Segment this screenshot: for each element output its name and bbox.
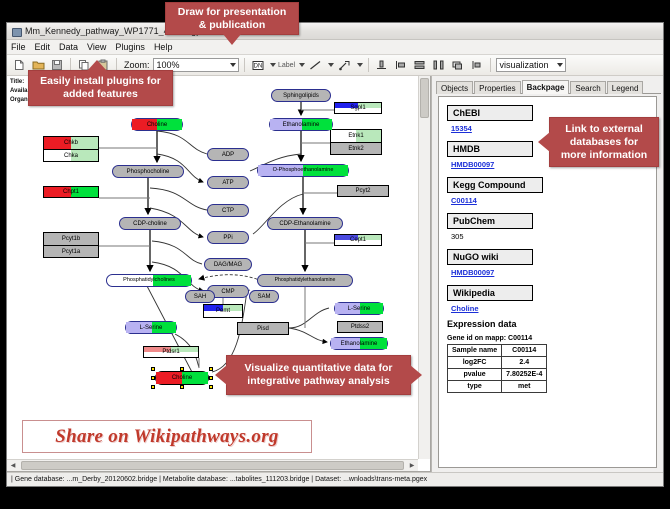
tab-backpage[interactable]: Backpage: [522, 80, 570, 94]
cell-key: log2FC: [448, 357, 502, 369]
node-label: Ethanolamine: [341, 341, 378, 347]
node-label: Phosphatidylethanolamine: [275, 278, 336, 283]
db-group-pubchem: PubChem 305: [447, 211, 656, 241]
db-group-nugo: NuGO wiki HMDB00097: [447, 247, 656, 277]
db-link-kegg-compound[interactable]: C00114: [451, 196, 656, 205]
tab-legend[interactable]: Legend: [607, 81, 644, 94]
metabolite-o-phosphoethanolamine[interactable]: O-Phosphoethanolamine: [257, 164, 349, 177]
status-bar: | Gene database: ...m_Derby_20120602.bri…: [7, 472, 663, 486]
canvas-horizontal-scrollbar[interactable]: ◀ ▶: [7, 459, 418, 471]
node-label: Ethanolamine: [283, 122, 320, 128]
metabolite-dag-mag[interactable]: DAG/MAG: [204, 258, 252, 271]
align-left-icon[interactable]: [393, 57, 409, 73]
node-label: Etnk1: [348, 133, 363, 139]
metabolite-adp[interactable]: ADP: [207, 148, 249, 161]
callout-arrow-down: [223, 34, 241, 45]
metabolite-choline-selected[interactable]: Choline: [155, 371, 209, 385]
table-row: type met: [448, 381, 547, 393]
node-label: Chka: [64, 153, 78, 159]
chevron-down-icon[interactable]: [299, 63, 305, 67]
scrollbar-thumb[interactable]: [21, 461, 404, 470]
db-value-pubchem: 305: [451, 232, 656, 241]
pathway-canvas-pane[interactable]: Title: Availa Organi: [7, 76, 431, 472]
node-label: O-Phosphoethanolamine: [273, 168, 334, 174]
cell-value: 7.80252E-4: [502, 369, 547, 381]
node-label: Pcyt2: [355, 188, 370, 194]
expression-data-table: Sample name C00114 log2FC 2.4 pvalue 7.8…: [447, 344, 547, 393]
cell-value: C00114: [502, 345, 547, 357]
metabolite-ethanolamine-right[interactable]: Ethanolamine: [330, 337, 388, 350]
callout-arrow-up: [87, 60, 107, 71]
metabolite-phosphatidylcholines[interactable]: Phosphatidylcholines: [106, 274, 192, 287]
distribute-icon[interactable]: [431, 57, 447, 73]
cell-key: pvalue: [448, 369, 502, 381]
db-group-wikipedia: Wikipedia Choline: [447, 283, 656, 313]
gene-id-line: Gene id on mapp: C00114: [447, 335, 656, 342]
node-label: ADP: [222, 152, 234, 158]
node-label: SAH: [194, 294, 206, 300]
scrollbar-thumb[interactable]: [420, 78, 429, 118]
callout-arrow-right: [410, 365, 422, 385]
gene-pcyt1a[interactable]: Pcyt1a: [44, 245, 98, 257]
selection-handle[interactable]: [209, 385, 213, 389]
table-row: log2FC 2.4: [448, 357, 547, 369]
canvas-vertical-scrollbar[interactable]: [418, 76, 430, 459]
db-header-hmdb: HMDB: [447, 141, 533, 157]
gene-pemt[interactable]: Pemt: [203, 304, 243, 318]
order-icon[interactable]: [450, 57, 466, 73]
menu-item-data[interactable]: Data: [58, 42, 79, 52]
callout-draw-for-presentation: Draw for presentation & publication: [165, 2, 299, 35]
gene-cept1[interactable]: Cept1: [334, 234, 382, 246]
db-header-chebi: ChEBI: [447, 105, 533, 121]
gene-pcyt1b[interactable]: Pcyt1b: [44, 233, 98, 245]
callout-line-2: databases for: [570, 136, 638, 149]
metabolite-ctp[interactable]: CTP: [207, 204, 249, 217]
callout-share-on-wikipathways: Share on Wikipathways.org: [22, 420, 312, 453]
selection-handle[interactable]: [209, 367, 213, 371]
node-label: Choline: [147, 122, 167, 128]
node-label: CTP: [222, 208, 234, 214]
node-label: Chpt1: [63, 189, 79, 195]
chevron-down-icon[interactable]: [328, 63, 334, 67]
tab-search[interactable]: Search: [570, 81, 605, 94]
scroll-left-icon[interactable]: ◀: [7, 460, 19, 472]
node-label: Pisd: [257, 326, 269, 332]
gene-pisd[interactable]: Pisd: [237, 322, 289, 335]
node-label: CMP: [221, 289, 234, 295]
gene-etnk1[interactable]: Etnk1: [331, 130, 381, 142]
svg-text:DN: DN: [253, 63, 262, 69]
db-header-pubchem: PubChem: [447, 213, 533, 229]
screenshot-root: Mm_Kennedy_pathway_WP1771_45176.gpml Fil…: [0, 0, 670, 509]
stack-icon[interactable]: [412, 57, 428, 73]
menu-item-edit[interactable]: Edit: [34, 42, 52, 52]
table-row: pvalue 7.80252E-4: [448, 369, 547, 381]
visualization-value: visualization: [500, 60, 549, 70]
metabolite-cdp-ethanolamine[interactable]: CDP-Ethanolamine: [267, 217, 343, 230]
node-label: Pcyt1a: [62, 249, 80, 255]
toolbar-separator: [368, 58, 369, 72]
node-label: L-Serine: [140, 325, 163, 331]
node-label: Chkb: [64, 140, 78, 146]
chevron-down-icon: [230, 63, 236, 67]
node-label: Phosphocholine: [127, 169, 170, 175]
title-bar: Mm_Kennedy_pathway_WP1771_45176.gpml: [7, 23, 663, 40]
line-tool-icon[interactable]: [308, 57, 324, 73]
callout-line-2: integrative pathway analysis: [247, 375, 389, 388]
menu-item-plugins[interactable]: Plugins: [114, 42, 146, 52]
tab-objects[interactable]: Objects: [436, 81, 473, 94]
metabolite-ethanolamine-top[interactable]: Ethanolamine: [269, 118, 333, 131]
new-document-icon[interactable]: [11, 57, 27, 73]
db-header-wikipedia: Wikipedia: [447, 285, 533, 301]
menu-item-file[interactable]: File: [10, 42, 27, 52]
tab-properties[interactable]: Properties: [474, 81, 520, 94]
gene-chkb[interactable]: Chkb: [44, 137, 98, 149]
gene-sgpl1[interactable]: Sgpl1: [334, 102, 382, 114]
node-label: Pcyt1b: [62, 236, 80, 242]
application-icon: [11, 26, 21, 36]
cell-key: type: [448, 381, 502, 393]
node-label: Choline: [172, 375, 192, 381]
zoom-value: 100%: [157, 60, 180, 70]
gene-group-etnk[interactable]: Etnk1 Etnk2: [330, 129, 382, 155]
callout-line-2: added features: [63, 88, 138, 101]
metabolite-sphingolipids[interactable]: Sphingolipids: [271, 89, 331, 102]
node-label: CDP-Ethanolamine: [279, 221, 330, 227]
toolbar-separator: [490, 58, 491, 72]
db-link-wikipedia[interactable]: Choline: [451, 304, 656, 313]
menu-bar: File Edit Data View Plugins Help: [7, 40, 663, 55]
node-label: Ptdsr1: [162, 349, 179, 355]
status-text: | Gene database: ...m_Derby_20120602.bri…: [11, 476, 427, 483]
chevron-down-icon[interactable]: [270, 63, 276, 67]
metabolite-cdp-choline[interactable]: CDP-choline: [119, 217, 181, 230]
zoom-label: Zoom:: [124, 60, 150, 70]
metabolite-l-serine-left[interactable]: L-Serine: [125, 321, 177, 334]
node-label: Cept1: [350, 237, 366, 243]
align-icon[interactable]: [374, 57, 390, 73]
db-group-kegg: Kegg Compound C00114: [447, 175, 656, 205]
metabolite-choline-top[interactable]: Choline: [131, 118, 183, 131]
metabolite-l-serine-right[interactable]: L-Serine: [334, 302, 384, 315]
cell-value: met: [502, 381, 547, 393]
gene-chka[interactable]: Chka: [44, 149, 98, 161]
node-label: Etnk2: [348, 146, 363, 152]
metabolite-sah[interactable]: SAH: [185, 290, 215, 303]
db-header-kegg-compound: Kegg Compound: [447, 177, 543, 193]
node-label: Ptdss2: [351, 324, 369, 330]
gene-etnk2[interactable]: Etnk2: [331, 142, 381, 154]
node-label: L-Serine: [348, 306, 371, 312]
label-tool[interactable]: Label: [279, 57, 295, 73]
node-label: ATP: [222, 180, 233, 186]
toolbar-separator: [244, 58, 245, 72]
expression-data-title: Expression data: [447, 319, 656, 329]
scroll-right-icon[interactable]: ▶: [406, 460, 418, 472]
callout-line-1: Visualize quantitative data for: [244, 362, 392, 375]
pathway-canvas[interactable]: Title: Availa Organi: [7, 76, 418, 459]
callout-visualize-quantitative-data: Visualize quantitative data for integrat…: [226, 355, 411, 395]
gene-ptdss2[interactable]: Ptdss2: [337, 321, 383, 333]
interaction-tool-icon[interactable]: [337, 57, 353, 73]
gene-pcyt2[interactable]: Pcyt2: [337, 185, 389, 197]
selection-handle[interactable]: [151, 367, 155, 371]
group-icon[interactable]: [469, 57, 485, 73]
callout-arrow-left: [538, 132, 550, 152]
visualization-combo[interactable]: visualization: [496, 58, 566, 72]
cell-key: Sample name: [448, 345, 502, 357]
chevron-down-icon: [557, 63, 563, 67]
db-header-nugo-wiki: NuGO wiki: [447, 249, 533, 265]
side-pane-tabs: Objects Properties Backpage Search Legen…: [436, 79, 661, 94]
selection-handle[interactable]: [209, 376, 213, 380]
menu-item-help[interactable]: Help: [153, 42, 174, 52]
node-label: PPi: [223, 235, 232, 241]
metabolite-phosphatidylethanolamine[interactable]: Phosphatidylethanolamine: [257, 274, 353, 287]
cell-value: 2.4: [502, 357, 547, 369]
node-label: Sgpl1: [350, 105, 365, 111]
gene-ptdsr1[interactable]: Ptdsr1: [143, 346, 199, 358]
node-label: DAG/MAG: [214, 262, 242, 268]
selection-handle[interactable]: [151, 385, 155, 389]
chevron-down-icon[interactable]: [357, 63, 363, 67]
table-row: Sample name C00114: [448, 345, 547, 357]
metabolite-sam[interactable]: SAM: [249, 290, 279, 303]
selected-node-group[interactable]: Choline: [155, 371, 209, 385]
node-label: Pemt: [216, 308, 230, 314]
gene-group-chk[interactable]: Chkb Chka: [43, 136, 99, 162]
share-text: Share on Wikipathways.org: [55, 426, 278, 448]
callout-line-3: more information: [561, 149, 647, 162]
selection-handle[interactable]: [151, 376, 155, 380]
callout-link-to-external-databases: Link to external databases for more info…: [549, 117, 659, 167]
callout-line-1: Draw for presentation: [178, 6, 287, 19]
metabolite-phosphocholine[interactable]: Phosphocholine: [112, 165, 184, 178]
selection-handle[interactable]: [180, 385, 184, 389]
callout-easily-install-plugins: Easily install plugins for added feature…: [28, 70, 173, 106]
gene-chpt1[interactable]: Chpt1: [43, 186, 99, 198]
callout-line-2: & publication: [199, 19, 266, 32]
datanode-icon[interactable]: DN: [250, 57, 266, 73]
callout-line-1: Easily install plugins for: [40, 75, 161, 88]
node-label: CDP-choline: [133, 221, 167, 227]
gene-group-pcyt1[interactable]: Pcyt1b Pcyt1a: [43, 232, 99, 258]
node-label: Sphingolipids: [283, 93, 319, 99]
menu-item-view[interactable]: View: [86, 42, 107, 52]
selection-handle[interactable]: [180, 367, 184, 371]
metabolite-ppi[interactable]: PPi: [207, 231, 249, 244]
metabolite-atp[interactable]: ATP: [207, 176, 249, 189]
callout-arrow-left: [215, 365, 227, 385]
node-label: SAM: [257, 294, 270, 300]
node-label: Phosphatidylcholines: [123, 278, 175, 284]
db-link-nugo-wiki[interactable]: HMDB00097: [451, 268, 656, 277]
callout-line-1: Link to external: [565, 123, 643, 136]
